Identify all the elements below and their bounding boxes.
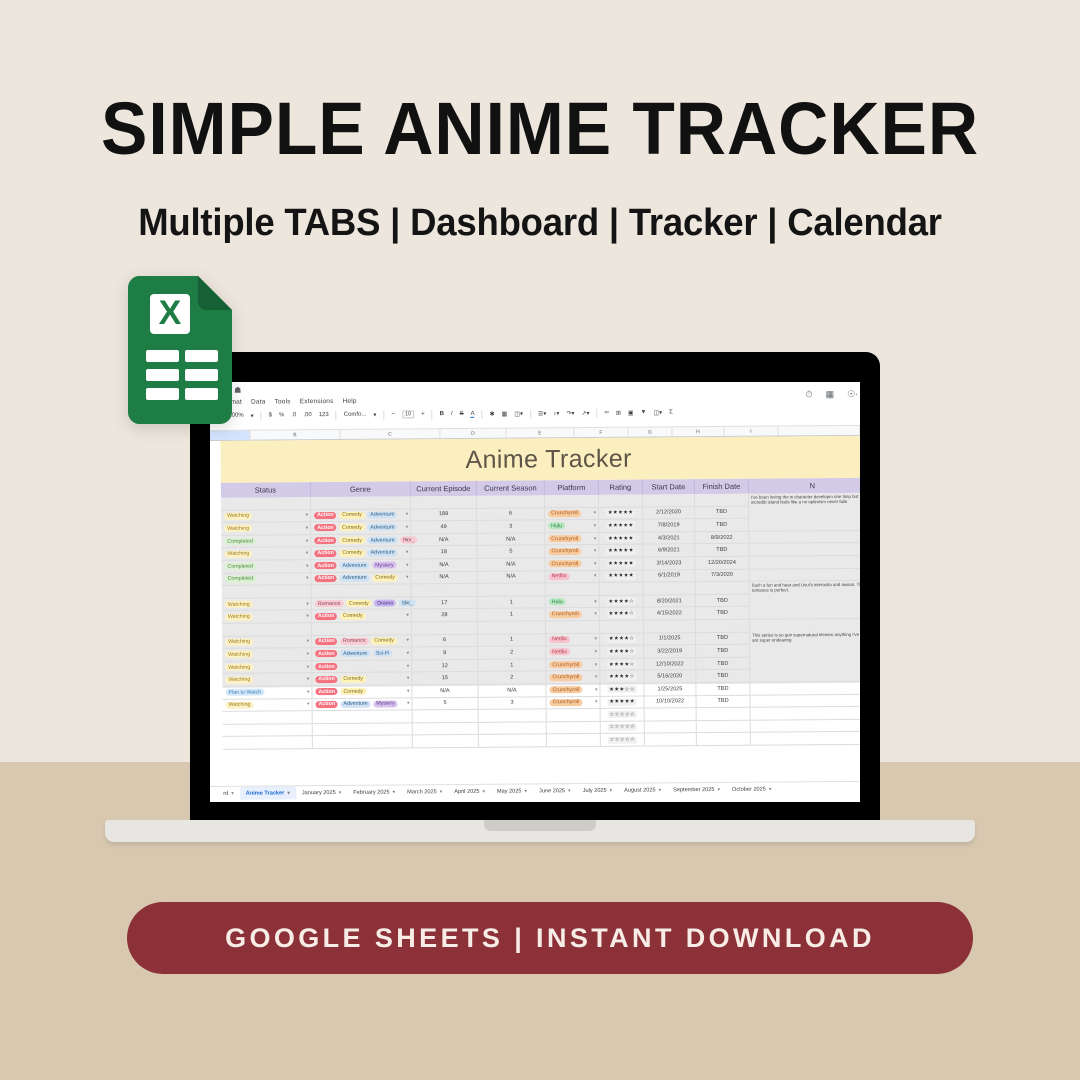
chevron-down-icon[interactable]: ▾ xyxy=(406,613,409,619)
cell-current-season[interactable]: N/A xyxy=(477,533,545,545)
text-color-button[interactable]: A xyxy=(471,410,475,417)
cell-notes[interactable] xyxy=(749,543,860,556)
number-format-button[interactable]: 123 xyxy=(319,412,329,418)
cell-platform[interactable]: Crunchyroll▾ xyxy=(545,545,599,557)
cell-rating[interactable]: ★★★★★ xyxy=(600,570,644,582)
cell-current-episode[interactable] xyxy=(413,723,479,735)
cell-platform[interactable] xyxy=(545,495,599,507)
cell-rating[interactable]: ★★★☆☆ xyxy=(600,683,644,695)
cell-status[interactable]: Watching▾ xyxy=(221,548,311,560)
cell-finish-date[interactable] xyxy=(697,720,751,732)
menu-item-data[interactable]: Data xyxy=(251,399,266,406)
sheet-tab-march-2025[interactable]: March 2025▾ xyxy=(401,785,448,799)
chevron-down-icon[interactable]: ▾ xyxy=(406,524,409,530)
chevron-down-icon[interactable]: ▾ xyxy=(595,661,598,667)
font-size-input[interactable]: 10 xyxy=(402,410,414,418)
cell-platform[interactable]: Hulu▾ xyxy=(545,520,599,532)
cell-current-season[interactable] xyxy=(479,735,547,747)
notes-cell[interactable]: I've been loving the w character develop… xyxy=(749,493,860,530)
chevron-down-icon[interactable]: ▾ xyxy=(306,576,309,582)
chevron-down-icon[interactable]: ▾ xyxy=(339,785,342,799)
cell-genre[interactable]: ActionAdventureMystery▾ xyxy=(313,698,413,710)
cell-rating[interactable]: ☆☆☆☆☆ xyxy=(601,709,645,721)
chevron-down-icon[interactable]: ▾ xyxy=(307,689,310,695)
cell-status[interactable]: Watching▾ xyxy=(223,699,313,711)
cell-current-episode[interactable]: 9 xyxy=(412,647,478,659)
cell-status[interactable]: Watching▾ xyxy=(221,510,311,522)
column-header-A[interactable] xyxy=(210,431,250,440)
chevron-down-icon[interactable]: ▾ xyxy=(287,786,290,800)
cell-finish-date[interactable]: TBD xyxy=(696,607,750,619)
cell-current-season[interactable]: 3 xyxy=(477,521,545,533)
cell-platform[interactable] xyxy=(546,583,600,595)
chevron-down-icon[interactable]: ▾ xyxy=(482,784,485,798)
genre-tag: Comedy xyxy=(339,549,365,556)
cell-platform[interactable]: Crunchyroll▾ xyxy=(547,696,601,708)
cell-current-episode[interactable]: 15 xyxy=(412,672,478,684)
cell-finish-date[interactable]: TBD xyxy=(696,670,750,682)
chevron-down-icon[interactable]: ▾ xyxy=(306,513,309,519)
cell-status[interactable] xyxy=(223,724,313,736)
cell-status[interactable]: Watching▾ xyxy=(222,636,312,648)
cell-current-season[interactable]: 6 xyxy=(477,508,545,520)
column-header-I[interactable]: I xyxy=(724,426,778,435)
cell-status[interactable] xyxy=(221,497,311,509)
cell-rating[interactable]: ★★★★☆ xyxy=(600,646,644,658)
column-header-H[interactable]: H xyxy=(672,427,724,436)
cell-finish-date[interactable] xyxy=(696,582,750,594)
column-header-G[interactable]: G xyxy=(628,427,672,436)
chevron-down-icon[interactable]: ▾ xyxy=(406,575,409,581)
chevron-down-icon[interactable]: ▾ xyxy=(440,785,443,799)
sheet-tab-june-2025[interactable]: June 2025▾ xyxy=(533,784,577,798)
cell-start-date[interactable]: 10/10/2022 xyxy=(645,696,697,708)
cell-finish-date[interactable]: TBD xyxy=(695,506,749,518)
cell-genre[interactable] xyxy=(313,736,413,748)
cell-rating[interactable]: ★★★★☆ xyxy=(600,658,644,670)
platform-badge: Crunchyroll xyxy=(549,661,582,668)
cell-start-date[interactable]: 7/8/2019 xyxy=(643,519,695,531)
cell-current-episode[interactable]: 189 xyxy=(411,508,477,520)
cell-notes[interactable] xyxy=(751,719,860,732)
cell-platform[interactable] xyxy=(547,722,601,734)
chevron-down-icon[interactable]: ▾ xyxy=(306,538,309,544)
column-header-A[interactable] xyxy=(778,426,860,436)
cell-finish-date[interactable]: TBD xyxy=(696,683,750,695)
cell-notes[interactable] xyxy=(751,707,860,720)
currency-button[interactable]: $ xyxy=(269,412,272,418)
filter-icon[interactable]: ▼ xyxy=(640,410,646,416)
cell-genre[interactable]: ActionComedy▾ xyxy=(312,673,412,685)
cell-platform[interactable]: Netflix▾ xyxy=(546,633,600,645)
cell-current-episode[interactable]: N/A xyxy=(412,685,478,697)
cell-current-season[interactable]: N/A xyxy=(478,684,546,696)
chevron-down-icon[interactable]: ▾ xyxy=(307,664,310,670)
chevron-down-icon[interactable]: ▾ xyxy=(610,783,613,797)
cell-status[interactable]: Completed▾ xyxy=(222,573,312,585)
paint-icon[interactable]: ✱ xyxy=(490,410,495,417)
cell-genre[interactable]: Action▾ xyxy=(312,660,412,672)
cell-current-episode[interactable]: 12 xyxy=(412,660,478,672)
chevron-down-icon[interactable]: ▾ xyxy=(307,639,310,645)
column-header-D[interactable]: D xyxy=(440,429,506,439)
chevron-down-icon[interactable]: ▾ xyxy=(393,785,396,799)
cell-current-season[interactable]: 1 xyxy=(478,596,546,608)
cell-start-date[interactable] xyxy=(645,721,697,733)
comment-add-icon[interactable]: ⊞ xyxy=(616,409,621,416)
cell-genre[interactable] xyxy=(313,710,413,722)
cell-start-date[interactable]: 6/9/2021 xyxy=(643,545,695,557)
divider xyxy=(336,410,337,419)
sheet-tab-february-2025[interactable]: February 2025▾ xyxy=(347,785,401,799)
chevron-down-icon[interactable]: ▾ xyxy=(307,676,310,682)
merge-icon[interactable]: ◫▾ xyxy=(514,410,523,417)
cell-status[interactable]: Watching▾ xyxy=(222,661,312,673)
menu-item-help[interactable]: Help xyxy=(342,398,356,405)
chevron-down-icon[interactable]: ▾ xyxy=(407,663,410,669)
chevron-down-icon[interactable]: ▾ xyxy=(594,611,597,617)
cell-finish-date[interactable]: TBD xyxy=(697,695,751,707)
cell-platform[interactable]: Crunchyroll▾ xyxy=(546,608,600,620)
cell-genre[interactable]: ActionComedyAdventure▾ xyxy=(311,509,411,521)
font-size-decrease-button[interactable]: − xyxy=(391,412,395,418)
chevron-down-icon[interactable]: ▾ xyxy=(594,573,597,579)
sheet-tab-july-2025[interactable]: July 2025▾ xyxy=(577,783,619,797)
cell-genre[interactable] xyxy=(312,622,412,634)
cell-start-date[interactable]: 4/3/2021 xyxy=(643,532,695,544)
cell-start-date[interactable]: 1/25/2025 xyxy=(644,683,696,695)
cell-current-episode[interactable]: N/A xyxy=(411,534,477,546)
chevron-down-icon[interactable]: ▾ xyxy=(659,783,662,797)
cell-status[interactable]: Watching▾ xyxy=(222,673,312,685)
chevron-down-icon[interactable]: ▾ xyxy=(769,782,772,796)
chevron-down-icon[interactable]: ▾ xyxy=(231,786,234,800)
chevron-down-icon[interactable]: ▾ xyxy=(594,548,597,554)
cell-notes[interactable] xyxy=(749,530,860,543)
chevron-down-icon[interactable]: ▾ xyxy=(306,550,309,556)
chevron-down-icon[interactable]: ▾ xyxy=(307,651,310,657)
genre-tag: Action xyxy=(315,638,338,645)
cell-rating[interactable]: ★★★★★ xyxy=(599,558,643,570)
cell-current-episode[interactable] xyxy=(411,496,477,508)
cell-current-season[interactable]: 2 xyxy=(478,672,546,684)
chevron-down-icon[interactable]: ▾ xyxy=(306,601,309,607)
cell-platform[interactable] xyxy=(546,621,600,633)
bold-button[interactable]: B xyxy=(440,411,444,417)
star-rating: ☆☆☆☆☆ xyxy=(607,736,637,743)
chevron-down-icon[interactable]: ▾ xyxy=(407,650,410,656)
cell-current-episode[interactable]: 49 xyxy=(411,521,477,533)
cell-current-season[interactable] xyxy=(478,621,546,633)
sheet-tab-september-2025[interactable]: September 2025▾ xyxy=(667,782,726,796)
cell-status[interactable]: Watching▾ xyxy=(222,648,312,660)
cell-platform[interactable] xyxy=(547,709,601,721)
cell-genre[interactable]: ActionAdventureSci-Fi▾ xyxy=(312,647,412,659)
cell-finish-date[interactable]: TBD xyxy=(696,594,750,606)
cell-start-date[interactable]: 4/15/2022 xyxy=(644,607,696,619)
cell-genre[interactable] xyxy=(311,496,411,508)
cell-notes[interactable] xyxy=(750,619,860,632)
column-header-B[interactable]: B xyxy=(250,430,340,440)
cell-status[interactable]: Completed▾ xyxy=(221,535,311,547)
chevron-down-icon[interactable]: ▾ xyxy=(595,649,598,655)
decimal-decrease-button[interactable]: .0 xyxy=(291,412,296,418)
cell-rating[interactable]: ★★★★☆ xyxy=(600,633,644,645)
cell-status[interactable]: Plan to Watch▾ xyxy=(222,686,312,698)
column-status: Status xyxy=(221,482,311,498)
chevron-down-icon[interactable]: ▾ xyxy=(407,688,410,694)
home-icon[interactable]: ☗ xyxy=(234,386,241,395)
cell-current-season[interactable] xyxy=(479,722,547,734)
cell-status[interactable] xyxy=(223,711,313,723)
chevron-down-icon[interactable]: ▾ xyxy=(407,638,410,644)
cell-start-date[interactable]: 1/1/2025 xyxy=(644,633,696,645)
cell-current-season[interactable]: 5 xyxy=(477,546,545,558)
cell-notes[interactable] xyxy=(750,568,860,581)
cell-platform[interactable] xyxy=(547,734,601,746)
link-icon[interactable]: ∞ xyxy=(604,410,608,416)
cell-current-season[interactable] xyxy=(477,495,545,507)
column-header-C[interactable]: C xyxy=(340,429,440,439)
chevron-down-icon[interactable]: ▾ xyxy=(594,598,597,604)
status-badge: Completed xyxy=(225,575,257,582)
cell-rating[interactable] xyxy=(600,583,644,595)
cta-button[interactable]: GOOGLE SHEETS | INSTANT DOWNLOAD xyxy=(127,902,973,974)
data-grid[interactable]: Watching▾ActionComedyAdventure▾1896Crunc… xyxy=(221,493,860,688)
cell-genre[interactable]: ActionAdventureComedy▾ xyxy=(312,572,412,584)
cell-rating[interactable]: ★★★★★ xyxy=(601,696,645,708)
chevron-down-icon[interactable]: ▾ xyxy=(406,537,409,543)
cell-current-episode[interactable]: 5 xyxy=(413,697,479,709)
cell-genre[interactable]: ActionComedyAdventureRor_▾ xyxy=(311,534,411,546)
sheet-tab-bar[interactable]: rd▾Anime Tracker▾January 2025▾February 2… xyxy=(210,781,860,800)
chevron-down-icon[interactable]: ▾ xyxy=(594,523,597,529)
chevron-down-icon[interactable]: ▾ xyxy=(594,561,597,567)
chevron-down-icon[interactable]: ▾ xyxy=(307,701,310,707)
cell-start-date[interactable] xyxy=(645,708,697,720)
sigma-icon[interactable]: Σ xyxy=(669,409,673,415)
filter-views-icon[interactable]: ◫▾ xyxy=(653,409,662,416)
chevron-down-icon[interactable]: ▾ xyxy=(406,562,409,568)
cell-status[interactable]: Watching▾ xyxy=(222,611,312,623)
cell-rating[interactable]: ★★★★☆ xyxy=(600,671,644,683)
cell-notes[interactable] xyxy=(749,556,860,569)
strikethrough-button[interactable]: S xyxy=(460,411,464,417)
borders-icon[interactable]: ▦ xyxy=(502,410,508,417)
cell-finish-date[interactable]: TBD xyxy=(696,645,750,657)
chevron-down-icon[interactable]: ▾ xyxy=(406,512,409,518)
cell-start-date[interactable]: 3/14/2023 xyxy=(643,557,695,569)
menu-item-tools[interactable]: Tools xyxy=(275,398,291,405)
chevron-down-icon[interactable]: ▾ xyxy=(407,676,410,682)
rotate-icon[interactable]: ↗▾ xyxy=(581,409,589,416)
cell-finish-date[interactable]: 12/20/2024 xyxy=(695,557,749,569)
cell-platform[interactable]: Crunchyroll▾ xyxy=(545,507,599,519)
cell-current-season[interactable]: 1 xyxy=(478,609,546,621)
cell-current-season[interactable]: N/A xyxy=(478,571,546,583)
cell-start-date[interactable]: 3/22/2019 xyxy=(644,645,696,657)
cell-finish-date[interactable]: TBD xyxy=(696,657,750,669)
genre-tag: Adventure xyxy=(367,524,397,531)
genre-tag: Action xyxy=(314,512,337,519)
cell-current-season[interactable]: N/A xyxy=(477,558,545,570)
valign-icon[interactable]: ↕▾ xyxy=(553,410,559,417)
chevron-down-icon[interactable]: ▾ xyxy=(524,784,527,798)
cell-genre[interactable] xyxy=(312,585,412,597)
cell-current-season[interactable] xyxy=(478,583,546,595)
percent-button[interactable]: % xyxy=(279,412,284,418)
cell-current-episode[interactable] xyxy=(413,735,479,747)
sheet-tab-may-2025[interactable]: May 2025▾ xyxy=(491,784,533,798)
divider xyxy=(530,409,531,418)
cell-start-date[interactable] xyxy=(643,494,695,506)
cell-status[interactable] xyxy=(222,585,312,597)
column-header-E[interactable]: E xyxy=(506,428,574,438)
chevron-down-icon[interactable]: ▾ xyxy=(595,636,598,642)
cell-current-season[interactable] xyxy=(479,709,547,721)
italic-button[interactable]: I xyxy=(451,411,453,417)
cell-genre[interactable]: RomanceComedyDramaSlic_▾ xyxy=(312,597,412,609)
cell-genre[interactable]: ActionAdventureMystery▾ xyxy=(311,559,411,571)
cell-genre[interactable] xyxy=(313,723,413,735)
cell-platform[interactable]: Netflix▾ xyxy=(546,646,600,658)
cell-finish-date[interactable]: TBD xyxy=(695,544,749,556)
cell-start-date[interactable]: 2/12/2020 xyxy=(643,507,695,519)
cell-rating[interactable]: ☆☆☆☆☆ xyxy=(601,734,645,746)
cell-platform[interactable]: Crunchyroll▾ xyxy=(546,684,600,696)
cell-current-episode[interactable]: 28 xyxy=(412,609,478,621)
chevron-down-icon[interactable]: ▾ xyxy=(306,613,309,619)
chevron-down-icon[interactable]: ▾ xyxy=(406,600,409,606)
cell-finish-date[interactable]: 8/9/2022 xyxy=(695,532,749,544)
cell-rating[interactable] xyxy=(599,495,643,507)
font-size-increase-button[interactable]: + xyxy=(421,411,425,417)
cell-rating[interactable]: ★★★★☆ xyxy=(600,595,644,607)
cell-finish-date[interactable] xyxy=(695,494,749,506)
cell-start-date[interactable] xyxy=(644,620,696,632)
cell-genre[interactable]: ActionComedy▾ xyxy=(312,610,412,622)
cell-genre[interactable]: ActionComedyAdventure▾ xyxy=(311,547,411,559)
cell-platform[interactable]: Crunchyroll▾ xyxy=(546,671,600,683)
cell-finish-date[interactable]: TBD xyxy=(695,519,749,531)
cell-rating[interactable]: ★★★★★ xyxy=(599,520,643,532)
chevron-down-icon[interactable]: ▾ xyxy=(568,784,571,798)
comment-icon[interactable]: ▦ xyxy=(826,389,835,400)
chevron-down-icon[interactable]: ▾ xyxy=(595,687,598,693)
sheet-tab-august-2025[interactable]: August 2025▾ xyxy=(618,783,667,797)
cell-status[interactable]: Completed▾ xyxy=(221,560,311,572)
cell-current-episode[interactable]: N/A xyxy=(411,559,477,571)
cell-status[interactable]: Watching▾ xyxy=(221,522,311,534)
star-rating: ☆☆☆☆☆ xyxy=(607,724,637,731)
cell-status[interactable] xyxy=(222,623,312,635)
chevron-down-icon[interactable]: ▾ xyxy=(594,536,597,542)
notes-cell[interactable]: This series is so quir supernatural elem… xyxy=(750,631,860,672)
sheet-tab-january-2025[interactable]: January 2025▾ xyxy=(296,785,348,799)
cell-platform[interactable]: Crunchyroll▾ xyxy=(545,533,599,545)
cell-genre[interactable]: ActionRomanceComedy▾ xyxy=(312,635,412,647)
cell-rating[interactable]: ★★★★★ xyxy=(599,532,643,544)
sheet-tab-april-2025[interactable]: April 2025▾ xyxy=(448,784,491,798)
cell-rating[interactable]: ★★★★★ xyxy=(599,507,643,519)
cell-genre[interactable]: ActionComedyAdventure▾ xyxy=(311,522,411,534)
cell-platform[interactable]: Netflix▾ xyxy=(546,570,600,582)
cell-current-episode[interactable] xyxy=(412,584,478,596)
cell-current-episode[interactable] xyxy=(412,622,478,634)
decimal-increase-button[interactable]: .00 xyxy=(303,412,311,418)
cell-finish-date[interactable]: TBD xyxy=(696,632,750,644)
sheet-tab-october-2025[interactable]: October 2025▾ xyxy=(726,782,778,796)
chevron-down-icon[interactable]: ▾ xyxy=(306,525,309,531)
chevron-down-icon[interactable]: ▾ xyxy=(407,701,410,707)
cell-status[interactable]: Watching▾ xyxy=(222,598,312,610)
cell-rating[interactable]: ★★★★☆ xyxy=(600,608,644,620)
platform-badge: Crunchyroll xyxy=(548,510,581,517)
cell-start-date[interactable]: 12/10/2022 xyxy=(644,658,696,670)
notes-text: This series is so quir supernatural elem… xyxy=(750,631,860,645)
font-selector[interactable]: Comfo... xyxy=(344,412,367,418)
cell-current-episode[interactable]: 6 xyxy=(412,634,478,646)
history-icon[interactable]: ⏱ xyxy=(805,389,812,400)
cell-platform[interactable]: Crunchyroll▾ xyxy=(546,659,600,671)
cell-genre[interactable]: ActionComedy▾ xyxy=(312,685,412,697)
chevron-down-icon[interactable]: ▾ xyxy=(595,674,598,680)
notes-cell[interactable]: Such a fun and hear and Usui's interacti… xyxy=(750,581,860,618)
cell-finish-date[interactable] xyxy=(697,708,751,720)
cell-rating[interactable]: ☆☆☆☆☆ xyxy=(601,721,645,733)
cell-start-date[interactable]: 6/1/2019 xyxy=(644,570,696,582)
cell-finish-date[interactable] xyxy=(697,733,751,745)
chart-icon[interactable]: ▣ xyxy=(628,409,634,416)
cell-platform[interactable]: Crunchyroll▾ xyxy=(545,558,599,570)
sheet-tab-anime-tracker[interactable]: Anime Tracker▾ xyxy=(240,786,296,800)
cell-notes[interactable] xyxy=(751,732,860,745)
cell-status[interactable] xyxy=(223,736,313,748)
cell-current-season[interactable]: 1 xyxy=(478,634,546,646)
cell-start-date[interactable]: 5/16/2020 xyxy=(644,670,696,682)
sheet-tab-rd[interactable]: rd▾ xyxy=(217,786,240,800)
cell-current-episode[interactable]: 17 xyxy=(412,597,478,609)
align-icon[interactable]: ☰▾ xyxy=(538,410,546,417)
cell-finish-date[interactable]: 7/3/2020 xyxy=(696,569,750,581)
chevron-down-icon[interactable]: ▾ xyxy=(595,699,598,705)
cell-rating[interactable]: ★★★★★ xyxy=(599,545,643,557)
cell-platform[interactable]: Hulu▾ xyxy=(546,596,600,608)
cell-start-date[interactable]: 8/20/2021 xyxy=(644,595,696,607)
wrap-icon[interactable]: ↷▾ xyxy=(566,410,574,417)
cell-current-season[interactable]: 3 xyxy=(479,697,547,709)
cell-current-season[interactable]: 1 xyxy=(478,659,546,671)
cell-start-date[interactable] xyxy=(645,733,697,745)
cell-current-episode[interactable]: N/A xyxy=(412,571,478,583)
cell-finish-date[interactable] xyxy=(696,620,750,632)
chevron-down-icon[interactable]: ▾ xyxy=(594,510,597,516)
menu-item-extensions[interactable]: Extensions xyxy=(300,398,334,405)
cell-current-season[interactable]: 2 xyxy=(478,646,546,658)
chevron-down-icon[interactable]: ▾ xyxy=(406,550,409,556)
bell-icon[interactable]: ☉· xyxy=(847,389,858,400)
column-header-F[interactable]: F xyxy=(574,428,628,437)
chevron-down-icon[interactable]: ▾ xyxy=(306,563,309,569)
cell-start-date[interactable] xyxy=(644,582,696,594)
cell-current-episode[interactable] xyxy=(413,710,479,722)
cell-notes[interactable] xyxy=(750,682,860,695)
chevron-down-icon[interactable]: ▾ xyxy=(717,782,720,796)
genre-tag: Action xyxy=(315,676,338,683)
cell-notes[interactable] xyxy=(751,694,860,707)
cell-current-episode[interactable]: 18 xyxy=(411,546,477,558)
cell-rating[interactable] xyxy=(600,620,644,632)
